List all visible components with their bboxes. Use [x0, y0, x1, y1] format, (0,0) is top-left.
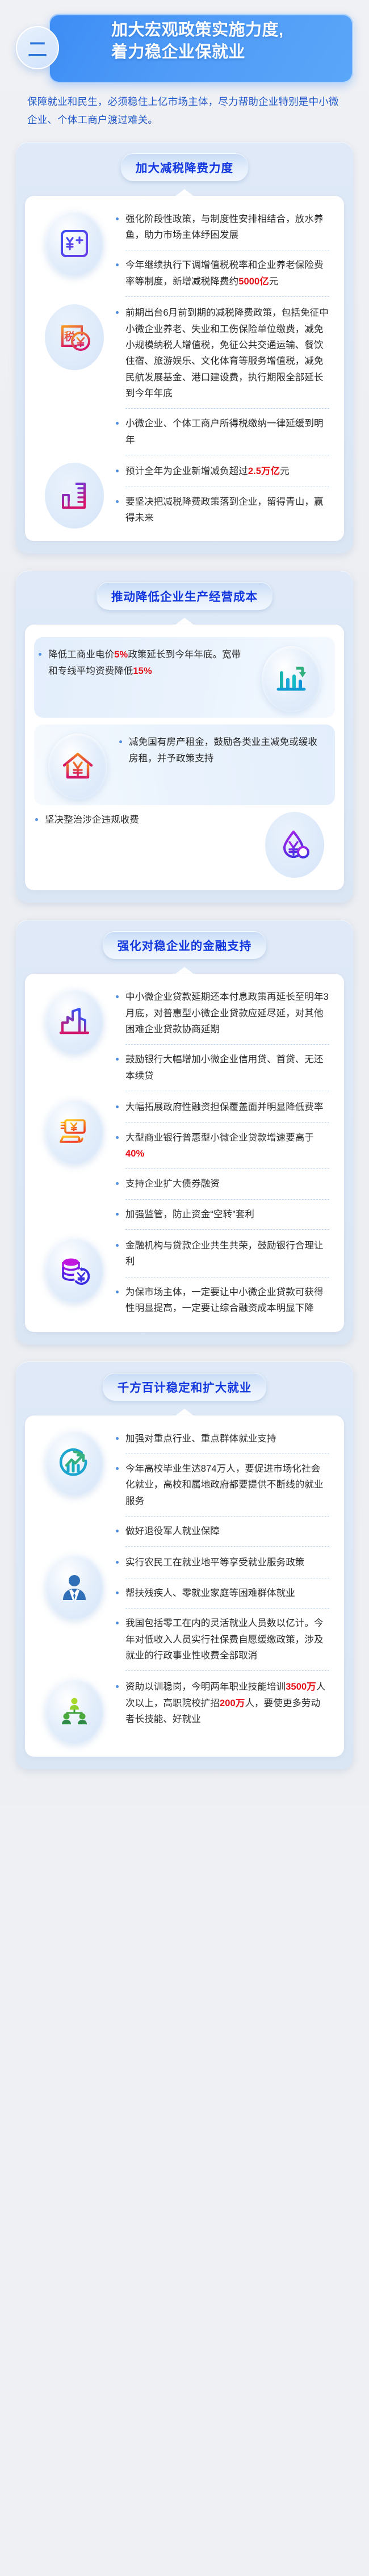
text-column: 降低工商业电价5%政策延长到今年年底。宽带和专线平均资费降低15% [37, 643, 251, 682]
text-column: 加强对重点行业、重点群体就业支持 今年高校毕业生达874万人，要促进市场化社会化… [115, 1427, 335, 1551]
bullet-text: 加强对重点行业、重点群体就业支持 [125, 1431, 276, 1447]
icon-column [254, 809, 335, 878]
list-item: 加强监管，防止资金“空转”套利 [115, 1204, 335, 1225]
bullet-row: 加强对重点行业、重点群体就业支持 今年高校毕业生达874万人，要促进市场化社会化… [34, 1427, 335, 1551]
declining-bars-icon [262, 646, 321, 712]
bullet-dot [116, 1244, 119, 1247]
bullet-row: 预计全年为企业新增减负超过2.5万亿元 要坚决把减税降费政策落到企业，留得青山，… [34, 459, 335, 529]
section-card: 加强对重点行业、重点群体就业支持 今年高校毕业生达874万人，要促进市场化社会化… [25, 1415, 344, 1757]
list-item: 前期出台6月前到期的减税降费政策，包括免征中小微企业养老、失业和工伤保险单位缴费… [115, 302, 335, 404]
section-card: 降低工商业电价5%政策延长到今年年底。宽带和专线平均资费降低15% [25, 625, 344, 890]
bullet-text: 支持企业扩大债券融资 [125, 1176, 220, 1192]
divider [125, 1608, 329, 1609]
bullet-dot [39, 653, 41, 656]
icon-column [251, 643, 332, 712]
bullet-dot [116, 1591, 119, 1594]
list-item: 金融机构与贷款企业共生共荣，鼓励银行合理让利 [115, 1235, 335, 1273]
icon-column [34, 1427, 115, 1496]
bullet-text: 加强监管，防止资金“空转”套利 [125, 1207, 254, 1222]
people-network-icon [45, 1678, 104, 1744]
yen-calculator-icon [45, 211, 104, 277]
divider [125, 1546, 329, 1547]
bullet-dot [116, 1467, 119, 1470]
divider [125, 408, 329, 409]
divider [125, 455, 329, 455]
text-column: 实行农民工在就业地平等享受就业服务政策 帮扶残疾人、零就业家庭等困难群体就业 我… [115, 1551, 335, 1675]
bullet-dot [116, 995, 119, 998]
text-column: 强化阶段性政策，与制度性安排相结合，放水养鱼，助力市场主体纾困发展 今年继续执行… [115, 207, 335, 301]
list-item: 大型商业银行普惠型小微企业贷款增速要高于40% [115, 1127, 335, 1165]
bullet-dot [116, 1685, 119, 1688]
icon-column: 税 [34, 301, 115, 370]
section-title: 推动降低企业生产经营成本 [97, 582, 272, 610]
bullet-row: 降低工商业电价5%政策延长到今年年底。宽带和专线平均资费降低15% [34, 637, 335, 718]
bullet-dot [116, 1530, 119, 1532]
bullet-text: 坚决整治涉企违规收费 [45, 812, 139, 828]
text-column: 中小微企业贷款延期还本付息政策再延长至明年3月底，对普惠型小微企业贷款应延尽延，… [115, 985, 335, 1095]
bullet-text: 做好退役军人就业保障 [125, 1523, 220, 1539]
list-item: 加强对重点行业、重点群体就业支持 [115, 1428, 335, 1450]
divider [125, 487, 329, 487]
list-item: 小微企业、个体工商户所得税缴纳一律延缓到明年 [115, 413, 335, 451]
divider [125, 1091, 329, 1091]
bullet-text: 帮扶残疾人、零就业家庭等困难群体就业 [125, 1585, 295, 1601]
list-item: 减免国有房产租金，鼓励各类业主减免或缓收房租，并予政策支持 [118, 731, 332, 769]
section-title: 强化对稳企业的金融支持 [103, 931, 267, 959]
divider [125, 1168, 329, 1169]
list-item: 我国包括零工在内的灵活就业人员数以亿计。今年对低收入人员实行社保费自愿缓缴政策，… [115, 1612, 335, 1666]
bullet-text: 前期出台6月前到期的减税降费政策，包括免征中小微企业养老、失业和工伤保险单位缴费… [125, 305, 329, 401]
icon-column [34, 985, 115, 1054]
divider [125, 1199, 329, 1200]
section-card: 强化阶段性政策，与制度性安排相结合，放水养鱼，助力市场主体纾困发展 今年继续执行… [25, 196, 344, 542]
bullet-text: 中小微企业贷款延期还本付息政策再延长至明年3月底，对普惠型小微企业贷款应延尽延，… [125, 989, 329, 1037]
coins-yen-icon [45, 1237, 104, 1303]
list-item: 做好退役军人就业保障 [115, 1521, 335, 1542]
house-yen-icon [48, 734, 107, 799]
bullet-text: 鼓励银行大幅增加小微企业信用贷、首贷、无还本续贷 [125, 1052, 329, 1084]
section-cost-reduction: 推动降低企业生产经营成本 [16, 571, 353, 903]
icon-column [34, 207, 115, 277]
bullet-row: 大幅拓展政府性融资担保覆盖面并明显降低费率 大型商业银行普惠型小微企业贷款增速要… [34, 1095, 335, 1234]
divider [125, 1122, 329, 1123]
notch-arrow [175, 189, 194, 196]
list-item: 今年高校毕业生达874万人，要促进市场化社会化就业，高校和属地政府都要提供不断线… [115, 1458, 335, 1512]
bullet-dot [116, 1182, 119, 1185]
list-item: 要坚决把减税降费政策落到企业，留得青山，赢得未来 [115, 491, 335, 529]
tax-stamp-icon: 税 [45, 304, 104, 370]
bullet-row: 坚决整治涉企违规收费 [34, 809, 335, 878]
text-column: 大幅拓展政府性融资担保覆盖面并明显降低费率 大型商业银行普惠型小微企业贷款增速要… [115, 1095, 335, 1234]
list-item: 大幅拓展政府性融资担保覆盖面并明显降低费率 [115, 1096, 335, 1118]
infographic-page: 二 加大宏观政策实施力度, 着力稳企业保就业 保障就业和民生，必须稳住上亿市场主… [0, 0, 369, 1806]
bullet-dot [116, 311, 119, 314]
icon-column [37, 730, 118, 799]
drop-yen-minus-icon [265, 812, 324, 878]
bar-building-icon [45, 463, 104, 529]
bullet-dot [116, 263, 119, 266]
section-title: 加大减税降费力度 [121, 153, 248, 181]
divider [125, 1454, 329, 1454]
bullet-row: 税 前期出台6月前到期的减税降费政策，包括免征中小微企业养老、失业和工伤保险单位… [34, 301, 335, 459]
divider [125, 1578, 329, 1578]
intro-paragraph: 保障就业和民生，必须稳住上亿市场主体，尽力帮助企业特别是中小微企业、个体工商户渡… [0, 91, 369, 142]
text-column: 坚决整治涉企违规收费 [34, 809, 254, 829]
text-column: 预计全年为企业新增减负超过2.5万亿元 要坚决把减税降费政策落到企业，留得青山，… [115, 459, 335, 529]
list-item: 中小微企业贷款延期还本付息政策再延长至明年3月底，对普惠型小微企业贷款应延尽延，… [115, 986, 335, 1040]
bullet-dot [116, 1437, 119, 1440]
divider [125, 1277, 329, 1277]
section-card: 中小微企业贷款延期还本付息政策再延长至明年3月底，对普惠型小微企业贷款应延尽延，… [25, 974, 344, 1331]
bullet-row: 金融机构与贷款企业共生共荣，鼓励银行合理让利 为保市场主体，一定要让中小微企业贷… [34, 1234, 335, 1320]
icon-column [34, 1095, 115, 1165]
section-tax-reduction: 加大减税降费力度 [16, 142, 353, 554]
bullet-dot [116, 470, 119, 472]
bullet-text: 今年继续执行下调增值税税率和企业养老保险费率等制度，新增减税降费约5000亿元 [125, 257, 329, 290]
bullet-text: 预计全年为企业新增减负超过2.5万亿元 [125, 463, 290, 479]
bullet-text: 资助以训稳岗，今明两年职业技能培训3500万人次以上，高职院校扩招200万人，要… [125, 1679, 329, 1727]
list-item: 帮扶残疾人、零就业家庭等困难群体就业 [115, 1582, 335, 1604]
list-item: 实行农民工在就业地平等享受就业服务政策 [115, 1552, 335, 1573]
text-column: 前期出台6月前到期的减税降费政策，包括免征中小微企业养老、失业和工伤保险单位缴费… [115, 301, 335, 459]
list-item: 预计全年为企业新增减负超过2.5万亿元 [115, 460, 335, 482]
page-title: 加大宏观政策实施力度, 着力稳企业保就业 [111, 19, 349, 63]
bullet-text: 要坚决把减税降费政策落到企业，留得青山，赢得未来 [125, 494, 329, 526]
bullet-text: 降低工商业电价5%政策延长到今年年底。宽带和专线平均资费降低15% [48, 647, 245, 679]
bullet-dot [116, 1105, 119, 1108]
bullet-dot [116, 1136, 119, 1139]
icon-column [34, 1234, 115, 1303]
city-chart-icon [45, 988, 104, 1054]
icon-column [34, 1551, 115, 1620]
bullet-dot [116, 1291, 119, 1293]
bullet-row: 减免国有房产租金，鼓励各类业主减免或缓收房租，并予政策支持 [34, 724, 335, 805]
divider [125, 1044, 329, 1045]
text-column: 减免国有房产租金，鼓励各类业主减免或缓收房租，并予政策支持 [118, 730, 332, 769]
bullet-dot [119, 740, 122, 743]
bullet-text: 大型商业银行普惠型小微企业贷款增速要高于40% [125, 1130, 329, 1162]
bullet-text: 金融机构与贷款企业共生共荣，鼓励银行合理让利 [125, 1238, 329, 1270]
page-header: 二 加大宏观政策实施力度, 着力稳企业保就业 [0, 0, 369, 91]
divider [125, 250, 329, 250]
notch-arrow [175, 1409, 194, 1416]
bullet-row: 实行农民工在就业地平等享受就业服务政策 帮扶残疾人、零就业家庭等困难群体就业 我… [34, 1551, 335, 1675]
divider [125, 296, 329, 297]
card-hand-icon [45, 1099, 104, 1165]
bullet-dot [116, 500, 119, 503]
bullet-text: 减免国有房产租金，鼓励各类业主减免或缓收房租，并予政策支持 [129, 734, 326, 766]
bullet-row: 强化阶段性政策，与制度性安排相结合，放水养鱼，助力市场主体纾困发展 今年继续执行… [34, 207, 335, 301]
list-item: 强化阶段性政策，与制度性安排相结合，放水养鱼，助力市场主体纾困发展 [115, 208, 335, 246]
list-item: 降低工商业电价5%政策延长到今年年底。宽带和专线平均资费降低15% [37, 644, 251, 682]
bullet-dot [116, 1622, 119, 1624]
section-employment: 千方百计稳定和扩大就业 [16, 1362, 353, 1770]
icon-column [34, 1675, 115, 1744]
list-item: 资助以训稳岗，今明两年职业技能培训3500万人次以上，高职院校扩招200万人，要… [115, 1676, 335, 1730]
bullet-dot [116, 1058, 119, 1061]
list-item: 鼓励银行大幅增加小微企业信用贷、首贷、无还本续贷 [115, 1049, 335, 1087]
icon-column [34, 459, 115, 529]
bullet-dot [35, 818, 38, 821]
bullet-text: 实行农民工在就业地平等享受就业服务政策 [125, 1555, 304, 1570]
bullet-text: 大幅拓展政府性融资担保覆盖面并明显降低费率 [125, 1099, 324, 1115]
list-item: 今年继续执行下调增值税税率和企业养老保险费率等制度，新增减税降费约5000亿元 [115, 254, 335, 292]
bullet-text: 强化阶段性政策，与制度性安排相结合，放水养鱼，助力市场主体纾困发展 [125, 211, 329, 244]
divider [125, 1229, 329, 1230]
bullet-dot [116, 422, 119, 425]
list-item: 为保市场主体，一定要让中小微企业贷款可获得性明显提高，一定要让综合融资成本明显下… [115, 1281, 335, 1320]
bullet-dot [116, 217, 119, 220]
divider [125, 1670, 329, 1671]
bullet-text: 今年高校毕业生达874万人，要促进市场化社会化就业，高校和属地政府都要提供不断线… [125, 1461, 329, 1509]
person-tie-icon [45, 1554, 104, 1620]
divider [125, 1516, 329, 1517]
bullet-row: 中小微企业贷款延期还本付息政策再延长至明年3月底，对普惠型小微企业贷款应延尽延，… [34, 985, 335, 1095]
bullet-text: 为保市场主体，一定要让中小微企业贷款可获得性明显提高，一定要让综合融资成本明显下… [125, 1284, 329, 1317]
bullet-row: 资助以训稳岗，今明两年职业技能培训3500万人次以上，高职院校扩招200万人，要… [34, 1675, 335, 1744]
bullet-text: 我国包括零工在内的灵活就业人员数以亿计。今年对低收入人员实行社保费自愿缓缴政策，… [125, 1615, 329, 1664]
section-title: 千方百计稳定和扩大就业 [103, 1373, 267, 1401]
growth-arrow-icon [45, 1430, 104, 1496]
section-financial-support: 强化对稳企业的金融支持 [16, 920, 353, 1344]
bullet-dot [116, 1561, 119, 1564]
bullet-dot [116, 1213, 119, 1216]
text-column: 金融机构与贷款企业共生共荣，鼓励银行合理让利 为保市场主体，一定要让中小微企业贷… [115, 1234, 335, 1320]
bullet-text: 小微企业、个体工商户所得税缴纳一律延缓到明年 [125, 416, 329, 448]
list-item: 坚决整治涉企违规收费 [34, 810, 254, 829]
section-number-badge: 二 [16, 26, 59, 69]
text-column: 资助以训稳岗，今明两年职业技能培训3500万人次以上，高职院校扩招200万人，要… [115, 1675, 335, 1730]
list-item: 支持企业扩大债券融资 [115, 1173, 335, 1195]
